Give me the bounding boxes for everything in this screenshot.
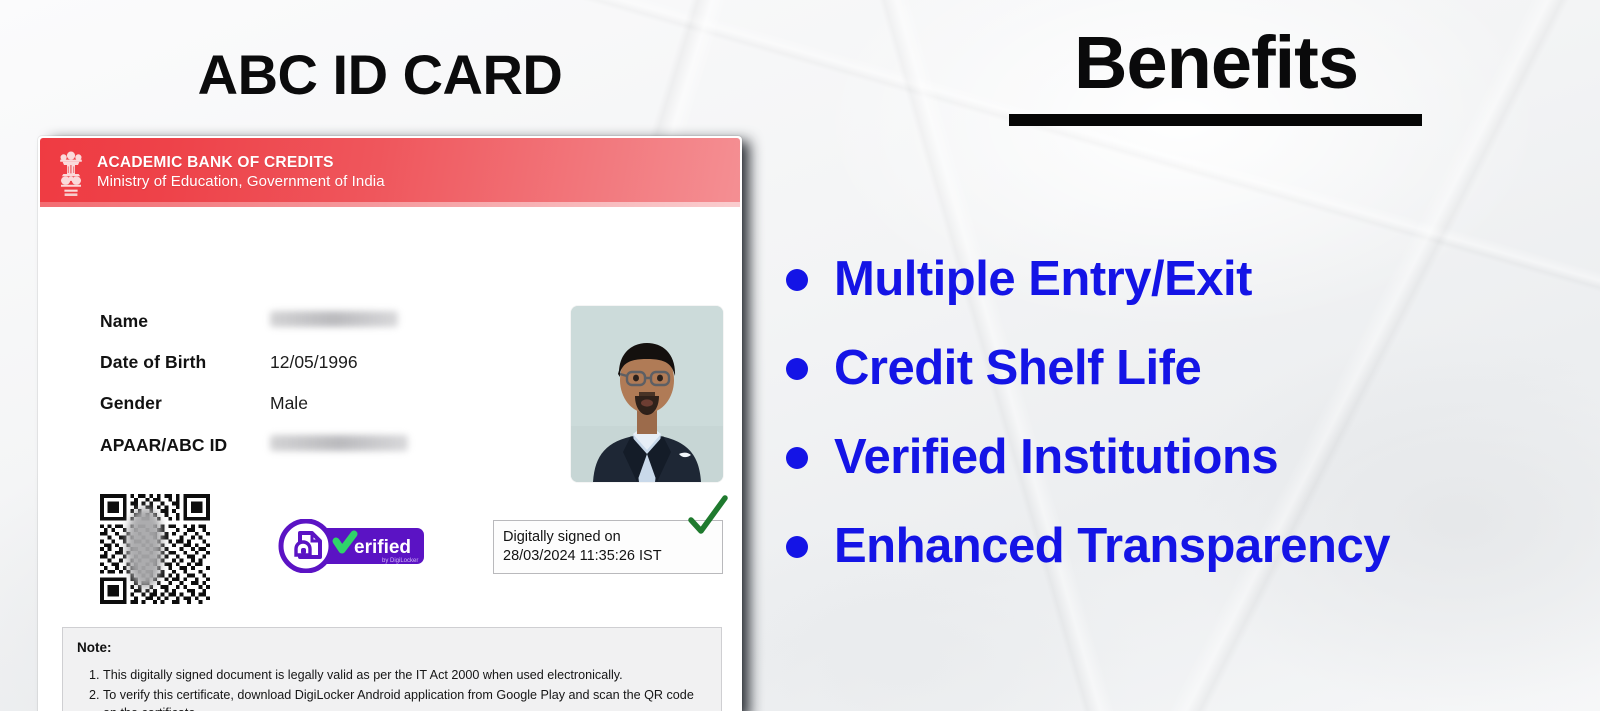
cardholder-photo [571,306,723,482]
bullet-dot-icon [786,447,808,469]
field-value [270,311,398,332]
abc-id-card: ACADEMIC BANK OF CREDITS Ministry of Edu… [38,136,742,711]
field-value: Male [270,393,308,414]
field-label: APAAR/ABC ID [100,435,270,456]
benefit-item: Enhanced Transparency [786,502,1596,591]
benefits-heading-underline [1009,114,1422,126]
card-header-subtitle: Ministry of Education, Government of Ind… [97,174,385,191]
bullet-dot-icon [786,269,808,291]
field-row-apaar-abc-id: APAAR/ABC ID [100,435,408,457]
note-list: This digitally signed document is legall… [77,667,707,711]
card-header-text: ACADEMIC BANK OF CREDITS Ministry of Edu… [97,154,385,191]
field-row-dob: Date of Birth 12/05/1996 [100,352,408,374]
qr-blur-overlay [126,508,162,588]
benefit-label: Credit Shelf Life [834,344,1201,393]
field-label: Name [100,311,270,332]
field-label: Date of Birth [100,352,270,373]
benefit-label: Verified Institutions [834,433,1278,482]
note-list-item: This digitally signed document is legall… [103,667,707,685]
field-label: Gender [100,393,270,414]
note-box: Note: This digitally signed document is … [62,627,722,711]
benefit-label: Multiple Entry/Exit [834,255,1252,304]
india-national-emblem-icon [56,147,86,199]
bullet-dot-icon [786,536,808,558]
field-value: 12/05/1996 [270,352,358,373]
benefit-label: Enhanced Transparency [834,522,1390,571]
card-header-banner: ACADEMIC BANK OF CREDITS Ministry of Edu… [40,138,740,207]
benefit-item: Verified Institutions [786,413,1596,502]
field-row-name: Name [100,311,408,333]
benefit-item: Credit Shelf Life [786,324,1596,413]
slide-canvas: ABC ID CARD [0,0,1600,711]
abc-id-card-heading: ABC ID CARD [0,42,760,107]
note-title: Note: [77,640,707,655]
redacted-name-value [270,311,398,327]
svg-text:by DigiLocker: by DigiLocker [382,558,418,564]
benefits-list: Multiple Entry/Exit Credit Shelf Life Ve… [786,235,1596,591]
bullet-dot-icon [786,358,808,380]
green-check-icon [684,494,730,538]
note-list-item: To verify this certificate, download Dig… [103,687,707,711]
benefit-item: Multiple Entry/Exit [786,235,1596,324]
field-row-gender: Gender Male [100,393,408,415]
redacted-id-value [270,435,408,451]
qr-code-icon [100,494,210,604]
card-header-title: ACADEMIC BANK OF CREDITS [97,154,385,171]
digilocker-verified-badge-icon: erified by DigiLocker [278,519,430,573]
benefits-heading: Benefits [1010,20,1422,105]
card-fields: Name Date of Birth 12/05/1996 Gender Mal… [100,311,408,476]
signed-on-timestamp: 28/03/2024 11:35:26 IST [503,547,722,566]
field-value [270,435,408,456]
svg-text:erified: erified [354,537,411,558]
